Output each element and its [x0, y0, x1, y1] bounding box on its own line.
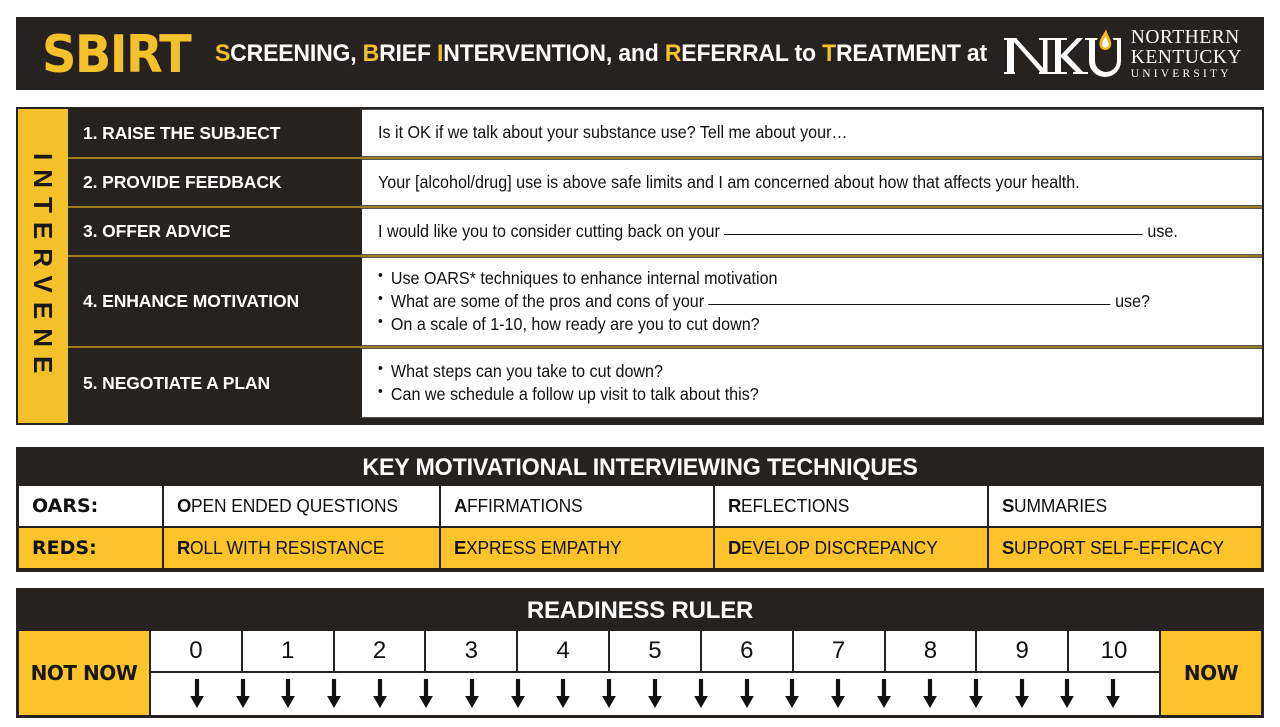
mi-technique-initial: O: [177, 495, 191, 517]
readiness-ruler-title: READINESS RULER: [19, 591, 1261, 631]
down-arrow-icon: [785, 679, 800, 714]
ruler-number-cell[interactable]: 8: [886, 631, 976, 671]
ruler-number-cell[interactable]: 7: [794, 631, 884, 671]
ruler-scale-numbers: 012345678910: [151, 631, 1159, 671]
intervene-step-label: 1. RAISE THE SUBJECT: [68, 109, 360, 157]
mi-technique-cell: SUPPORT SELF-EFFICACY: [989, 528, 1261, 568]
intervene-bullet-item: What are some of the pros and cons of yo…: [378, 290, 1178, 313]
mi-technique-rest: UMMARIES: [1014, 495, 1107, 517]
intervene-bullet-item: What steps can you take to cut down?: [378, 360, 1178, 383]
tagline-part-9: REATMENT at: [836, 40, 987, 67]
ruler-number-cell[interactable]: 5: [610, 631, 700, 671]
tagline-part-4: I: [437, 40, 443, 67]
down-arrow-icon: [877, 679, 892, 714]
mi-techniques-title: KEY MOTIVATIONAL INTERVIEWING TECHNIQUES: [38, 450, 1243, 486]
mi-technique-initial: E: [454, 537, 466, 559]
tagline-part-2: B: [362, 40, 378, 67]
down-arrow-icon: [922, 679, 937, 714]
intervene-step-label: 3. OFFER ADVICE: [68, 208, 360, 255]
intervene-step-label: 2. PROVIDE FEEDBACK: [68, 159, 360, 206]
intervene-bullet-list: What steps can you take to cut down?Can …: [378, 360, 1248, 406]
mi-techniques-section: KEY MOTIVATIONAL INTERVIEWING TECHNIQUES…: [16, 447, 1264, 572]
down-arrow-icon: [189, 679, 204, 714]
intervene-bullet-list: Use OARS* techniques to enhance internal…: [378, 267, 1248, 336]
mi-technique-initial: R: [728, 495, 741, 517]
intervene-step-content: Use OARS* techniques to enhance internal…: [360, 257, 1262, 346]
header-tagline: SCREENING, BRIEF INTERVENTION, and REFER…: [215, 40, 987, 68]
fill-in-blank[interactable]: [709, 304, 1111, 305]
tagline-part-0: S: [215, 40, 230, 67]
ruler-number-cell[interactable]: 1: [243, 631, 333, 671]
ruler-number-cell[interactable]: 4: [518, 631, 608, 671]
mi-technique-rest: EFLECTIONS: [741, 495, 849, 517]
intervene-bullet-item: Can we schedule a follow up visit to tal…: [378, 383, 1178, 406]
ruler-number-cell[interactable]: 10: [1069, 631, 1159, 671]
intervene-rows: 1. RAISE THE SUBJECTIs it OK if we talk …: [68, 109, 1262, 423]
mi-technique-initial: R: [177, 537, 190, 559]
tagline-part-5: NTERVENTION, and: [443, 40, 665, 67]
intervene-step-content: Your [alcohol/drug] use is above safe li…: [360, 159, 1262, 206]
down-arrow-icon: [1060, 679, 1075, 714]
mi-technique-cell: SUMMARIES: [989, 486, 1261, 526]
mi-technique-initial: S: [1002, 537, 1014, 559]
down-arrow-icon: [831, 679, 846, 714]
nku-word-line1: NORTHERN: [1131, 28, 1242, 48]
down-arrow-icon: [418, 679, 433, 714]
mi-techniques-grid: OARS:OPEN ENDED QUESTIONSAFFIRMATIONSREF…: [19, 486, 1261, 568]
tagline-part-7: EFERRAL to: [681, 40, 822, 67]
tagline-part-3: RIEF: [379, 40, 437, 67]
intervene-section: INTERVENE 1. RAISE THE SUBJECTIs it OK i…: [16, 107, 1264, 425]
tagline-part-6: R: [664, 40, 680, 67]
fill-text-after: use.: [1143, 221, 1178, 241]
nku-word-line3: UNIVERSITY: [1131, 69, 1242, 81]
ruler-number-cell[interactable]: 2: [335, 631, 425, 671]
intervene-spine: INTERVENE: [18, 109, 68, 423]
nku-logo: NORTHERN KENTUCKY UNIVERSITY: [1003, 28, 1242, 80]
intervene-row: 4. ENHANCE MOTIVATIONUse OARS* technique…: [68, 255, 1262, 346]
down-arrow-icon: [968, 679, 983, 714]
mi-technique-cell: REFLECTIONS: [715, 486, 987, 526]
mi-technique-rest: PEN ENDED QUESTIONS: [191, 495, 398, 517]
mi-acronym-key: OARS:: [19, 486, 162, 526]
down-arrow-icon: [1106, 679, 1121, 714]
mi-technique-rest: UPPORT SELF-EFFICACY: [1014, 537, 1224, 559]
down-arrow-icon: [327, 679, 342, 714]
down-arrow-icon: [648, 679, 663, 714]
ruler-scale: 012345678910: [151, 631, 1159, 715]
mi-technique-initial: D: [728, 537, 741, 559]
fill-text-before: What are some of the pros and cons of yo…: [391, 291, 709, 311]
down-arrow-icon: [464, 679, 479, 714]
ruler-number-cell[interactable]: 6: [702, 631, 792, 671]
ruler-not-now-label: NOT NOW: [19, 631, 149, 715]
intervene-step-label: 5. NEGOTIATE A PLAN: [68, 348, 360, 418]
down-arrow-icon: [1014, 679, 1029, 714]
mi-technique-cell: DEVELOP DISCREPANCY: [715, 528, 987, 568]
mi-technique-rest: EVELOP DISCREPANCY: [741, 537, 938, 559]
intervene-spine-label: INTERVENE: [30, 149, 56, 382]
intervene-step-content: I would like you to consider cutting bac…: [360, 208, 1262, 255]
mi-technique-cell: AFFIRMATIONS: [441, 486, 713, 526]
down-arrow-icon: [739, 679, 754, 714]
mi-techniques-row: OARS:OPEN ENDED QUESTIONSAFFIRMATIONSREF…: [19, 486, 1261, 526]
intervene-bullet-item: On a scale of 1-10, how ready are you to…: [378, 313, 1178, 336]
ruler-arrow-track: [151, 673, 1159, 715]
ruler-number-cell[interactable]: 3: [426, 631, 516, 671]
sbirt-logo: SBIRT: [42, 28, 190, 80]
mi-technique-initial: A: [454, 495, 467, 517]
intervene-fill-line: I would like you to consider cutting bac…: [378, 220, 1178, 243]
intervene-text-line: Is it OK if we talk about your substance…: [378, 121, 1178, 144]
down-arrow-icon: [235, 679, 250, 714]
fill-text-after: use?: [1111, 291, 1150, 311]
intervene-step-content: Is it OK if we talk about your substance…: [360, 109, 1262, 157]
ruler-now-label: NOW: [1161, 631, 1261, 715]
fill-in-blank[interactable]: [724, 234, 1143, 235]
down-arrow-icon: [602, 679, 617, 714]
ruler-number-cell[interactable]: 9: [977, 631, 1067, 671]
ruler-number-cell[interactable]: 0: [151, 631, 241, 671]
mi-technique-cell: ROLL WITH RESISTANCE: [164, 528, 439, 568]
down-arrow-icon: [556, 679, 571, 714]
intervene-row: 2. PROVIDE FEEDBACKYour [alcohol/drug] u…: [68, 157, 1262, 206]
readiness-ruler-section: READINESS RULER NOT NOW 012345678910 NOW: [16, 588, 1264, 718]
nku-word-line2: KENTUCKY: [1131, 48, 1242, 68]
tagline-part-8: T: [822, 40, 836, 67]
down-arrow-icon: [373, 679, 388, 714]
page-header: SBIRT SCREENING, BRIEF INTERVENTION, and…: [16, 17, 1264, 90]
mi-technique-cell: EXPRESS EMPATHY: [441, 528, 713, 568]
sbirt-pocket-card: SBIRT SCREENING, BRIEF INTERVENTION, and…: [0, 0, 1280, 727]
mi-technique-rest: XPRESS EMPATHY: [466, 537, 622, 559]
flame-icon: [1098, 28, 1112, 51]
fill-text-before: I would like you to consider cutting bac…: [378, 221, 724, 241]
down-arrow-icon: [281, 679, 296, 714]
intervene-row: 5. NEGOTIATE A PLANWhat steps can you ta…: [68, 346, 1262, 418]
intervene-step-label: 4. ENHANCE MOTIVATION: [68, 257, 360, 346]
intervene-step-content: What steps can you take to cut down?Can …: [360, 348, 1262, 418]
intervene-text-line: Your [alcohol/drug] use is above safe li…: [378, 171, 1178, 194]
mi-technique-cell: OPEN ENDED QUESTIONS: [164, 486, 439, 526]
mi-technique-rest: FFIRMATIONS: [467, 495, 583, 517]
intervene-row: 3. OFFER ADVICEI would like you to consi…: [68, 206, 1262, 255]
mi-techniques-row: REDS:ROLL WITH RESISTANCEEXPRESS EMPATHY…: [19, 528, 1261, 568]
mi-technique-rest: OLL WITH RESISTANCE: [190, 537, 384, 559]
nku-monogram-icon: [1003, 28, 1121, 80]
tagline-part-1: CREENING,: [230, 40, 362, 67]
intervene-bullet-item: Use OARS* techniques to enhance internal…: [378, 267, 1178, 290]
mi-acronym-key: REDS:: [19, 528, 162, 568]
down-arrow-icon: [693, 679, 708, 714]
down-arrow-icon: [510, 679, 525, 714]
nku-wordmark: NORTHERN KENTUCKY UNIVERSITY: [1131, 28, 1242, 80]
mi-technique-initial: S: [1002, 495, 1014, 517]
readiness-ruler-body: NOT NOW 012345678910 NOW: [19, 631, 1261, 715]
intervene-row: 1. RAISE THE SUBJECTIs it OK if we talk …: [68, 109, 1262, 157]
